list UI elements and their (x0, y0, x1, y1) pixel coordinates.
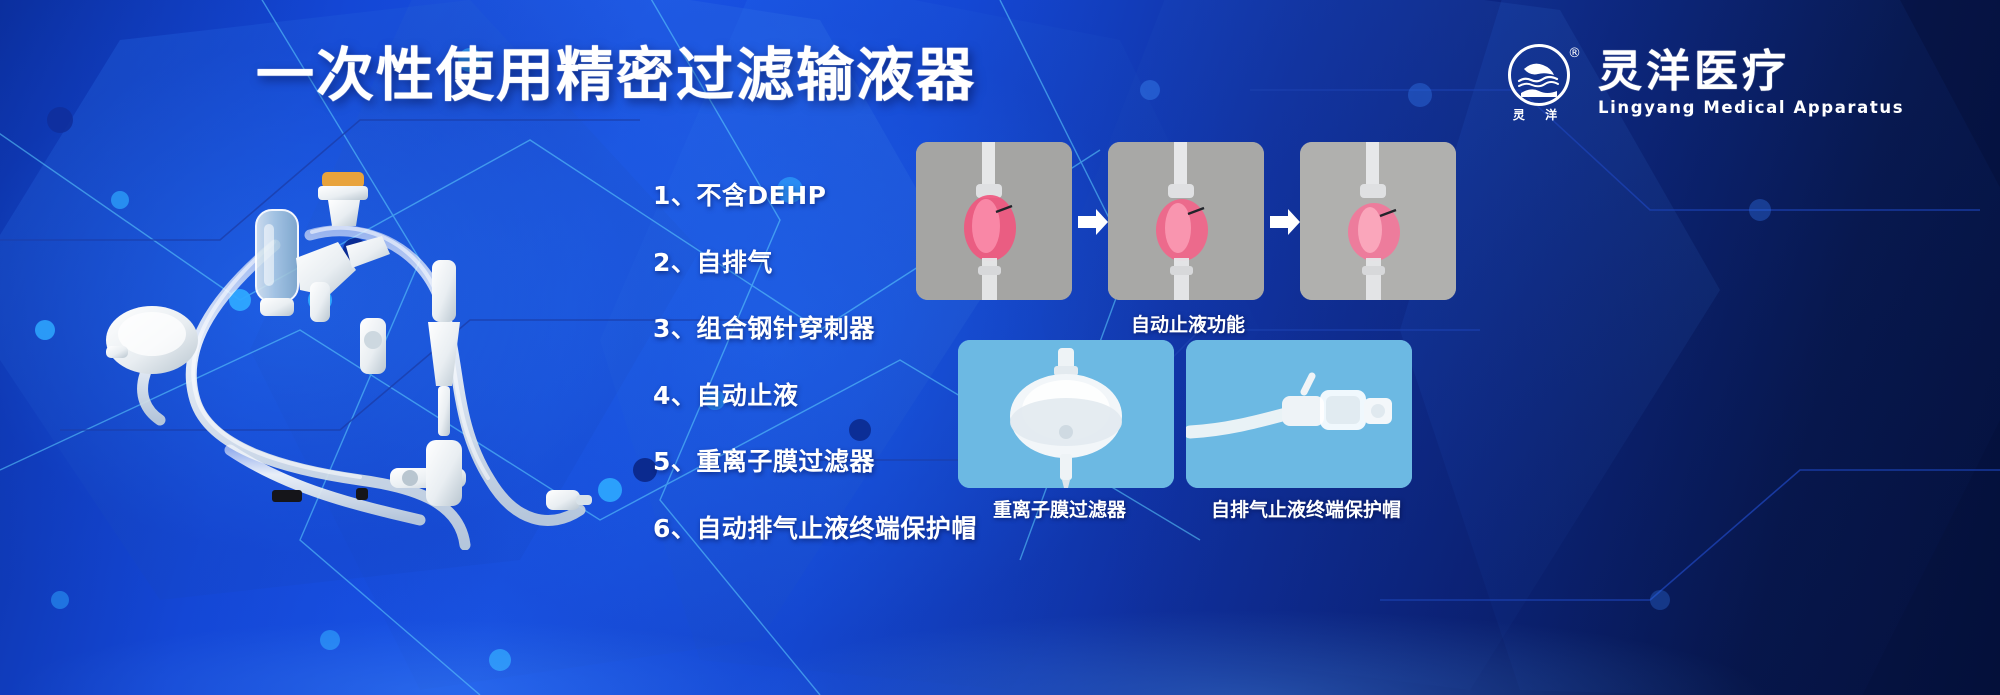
page-title: 一次性使用精密过滤输液器 (256, 46, 976, 104)
luer-connector (546, 490, 592, 510)
wave-swimmer-icon (1511, 47, 1567, 103)
caption-terminal-cap: 自排气止液终端保护帽 (1211, 495, 1401, 522)
company-name-cn: 灵洋医疗 (1598, 49, 1904, 95)
photo-stage-3 (1300, 142, 1456, 300)
membrane-filter-part (106, 306, 198, 374)
feature-item-5: 5、重离子膜过滤器 (653, 442, 977, 478)
feature-item-6: 6、自动排气止液终端保护帽 (653, 509, 977, 545)
y-injection-port (296, 236, 390, 322)
company-name-en: Lingyang Medical Apparatus (1598, 98, 1904, 117)
caption-heavy-ion-filter: 重离子膜过滤器 (993, 495, 1126, 522)
emblem-caption: 灵 洋 (1508, 106, 1570, 123)
caption-auto-stop: 自动止液功能 (1131, 310, 1245, 337)
drip-chamber-photo-1 (916, 142, 1072, 300)
arrow-icon-1 (1076, 205, 1110, 239)
drip-chamber (256, 210, 298, 316)
brand-logo: ® 灵 洋 灵洋医疗 Lingyang Medical Apparatus (1508, 44, 1904, 122)
roller-clamp (360, 318, 386, 374)
terminal-cap-photo (1186, 340, 1412, 488)
drip-chamber-photo-2 (1108, 142, 1264, 300)
marker-band (272, 490, 302, 502)
wave-emblem-icon (1508, 44, 1570, 106)
product-image (60, 150, 680, 550)
registered-trademark-icon: ® (1568, 46, 1581, 61)
photo-heavy-ion-filter (958, 340, 1174, 488)
photo-stage-1 (916, 142, 1072, 300)
banner-root: 一次性使用精密过滤输液器 ® 灵 洋 灵洋医疗 Lingyang Medical… (0, 0, 2000, 695)
arrow-icon-2 (1268, 205, 1302, 239)
photo-stage-2 (1108, 142, 1264, 300)
infusion-set-illustration (60, 150, 680, 550)
spike-connector (318, 172, 368, 226)
marker-band (356, 488, 368, 500)
logo-emblem: ® 灵 洋 (1508, 44, 1582, 122)
drip-chamber-photo-3 (1300, 142, 1456, 300)
feature-item-3: 3、组合钢针穿刺器 (653, 309, 977, 345)
heavy-ion-filter-photo (958, 340, 1174, 488)
photo-terminal-cap (1186, 340, 1412, 488)
feature-item-4: 4、自动止液 (653, 376, 977, 412)
brand-text: 灵洋医疗 Lingyang Medical Apparatus (1598, 49, 1904, 117)
